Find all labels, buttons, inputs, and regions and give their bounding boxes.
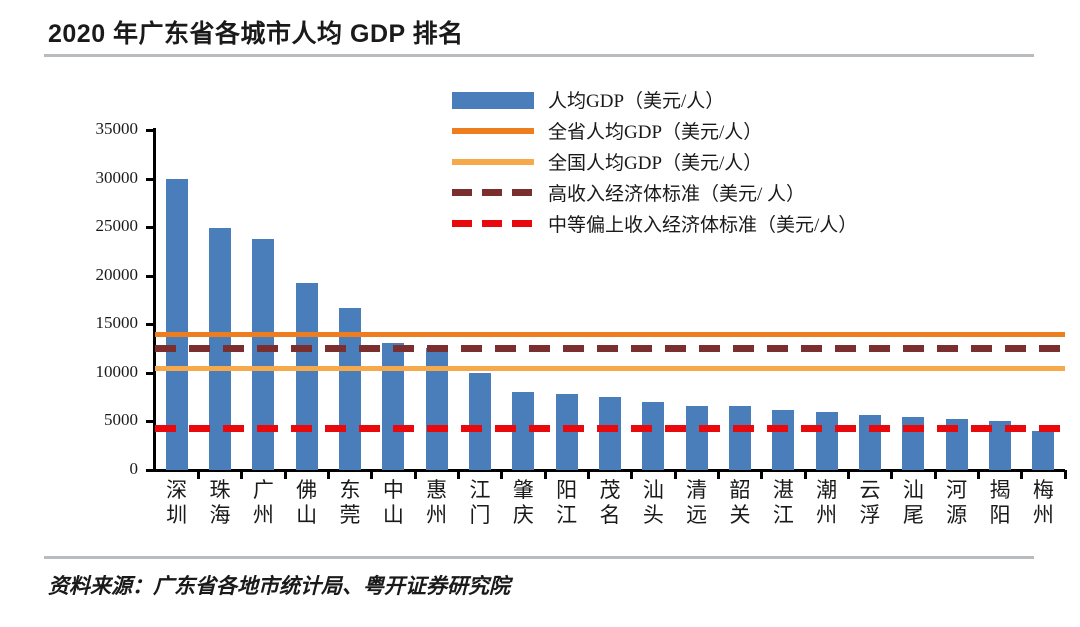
legend-item-bar[interactable]: 人均GDP（美元/人） (452, 84, 1052, 115)
y-tick-30000 (146, 178, 155, 181)
x-category-label: 肇庆 (510, 478, 536, 528)
x-category-label: 湛江 (770, 478, 796, 528)
x-category-label: 阳江 (554, 478, 580, 528)
bar[interactable] (642, 402, 664, 470)
x-tick (500, 470, 503, 479)
y-tick-label: 15000 (96, 313, 139, 333)
x-category-label: 茂名 (597, 478, 623, 528)
x-tick (630, 470, 633, 479)
y-tick-35000 (146, 129, 155, 132)
y-tick-label: 30000 (96, 168, 139, 188)
title-divider (44, 54, 1034, 57)
bar[interactable] (599, 397, 621, 470)
bar[interactable] (382, 343, 404, 470)
x-category-label: 梅州 (1030, 478, 1056, 528)
x-category-label: 广州 (250, 478, 276, 528)
bar[interactable] (729, 406, 751, 470)
y-tick-15000 (146, 323, 155, 326)
footer-divider (44, 556, 1034, 559)
x-tick (457, 470, 460, 479)
y-tick-0 (146, 469, 155, 472)
x-category-label: 揭阳 (987, 478, 1013, 528)
x-category-label: 韶关 (727, 478, 753, 528)
y-tick-label: 20000 (96, 265, 139, 285)
y-tick-10000 (146, 372, 155, 375)
x-tick (717, 470, 720, 479)
x-tick (544, 470, 547, 479)
bar[interactable] (686, 406, 708, 470)
reference-line-nation (155, 366, 1065, 371)
x-tick (1020, 470, 1023, 479)
bar[interactable] (296, 283, 318, 470)
x-category-label: 潮州 (814, 478, 840, 528)
x-category-label: 佛山 (294, 478, 320, 528)
x-category-label: 深圳 (164, 478, 190, 528)
x-tick (760, 470, 763, 479)
x-category-label: 汕头 (640, 478, 666, 528)
y-axis-labels: 05000100001500020000250003000035000 (26, 0, 138, 627)
y-tick-label: 25000 (96, 216, 139, 236)
x-tick (804, 470, 807, 479)
x-category-label: 惠州 (424, 478, 450, 528)
x-tick (284, 470, 287, 479)
y-tick-label: 35000 (96, 119, 139, 139)
x-tick (890, 470, 893, 479)
source-note: 资料来源：广东省各地市统计局、粤开证券研究院 (48, 570, 510, 600)
reference-line-upmid (155, 425, 1065, 432)
x-category-label: 珠海 (207, 478, 233, 528)
x-category-label: 江门 (467, 478, 493, 528)
y-tick-20000 (146, 275, 155, 278)
y-tick-25000 (146, 226, 155, 229)
bar[interactable] (252, 239, 274, 470)
bar[interactable] (859, 415, 881, 470)
x-category-label: 河源 (944, 478, 970, 528)
bar[interactable] (1032, 431, 1054, 470)
plot-area (155, 130, 1065, 470)
x-category-label: 清远 (684, 478, 710, 528)
x-tick (240, 470, 243, 479)
chart-page: 2020 年广东省各城市人均 GDP 排名 人均GDP（美元/人）全省人均GDP… (0, 0, 1080, 627)
x-category-label: 中山 (380, 478, 406, 528)
x-tick (587, 470, 590, 479)
bar[interactable] (556, 394, 578, 470)
y-tick-5000 (146, 420, 155, 423)
bar[interactable] (469, 373, 491, 470)
x-tick (327, 470, 330, 479)
x-category-label: 云浮 (857, 478, 883, 528)
bar[interactable] (816, 412, 838, 470)
y-tick-label: 0 (130, 459, 139, 479)
reference-line-province (155, 332, 1065, 337)
x-tick (1064, 470, 1067, 479)
x-tick (674, 470, 677, 479)
legend-swatch-bar-icon (452, 91, 534, 109)
x-tick (370, 470, 373, 479)
x-tick (977, 470, 980, 479)
y-tick-label: 10000 (96, 362, 139, 382)
reference-line-high (155, 345, 1065, 352)
legend-label-bar: 人均GDP（美元/人） (548, 86, 724, 113)
x-tick (847, 470, 850, 479)
x-tick (934, 470, 937, 479)
x-category-label: 汕尾 (900, 478, 926, 528)
bar[interactable] (772, 410, 794, 470)
y-tick-label: 5000 (104, 410, 138, 430)
x-tick (414, 470, 417, 479)
x-category-label: 东莞 (337, 478, 363, 528)
x-tick (197, 470, 200, 479)
